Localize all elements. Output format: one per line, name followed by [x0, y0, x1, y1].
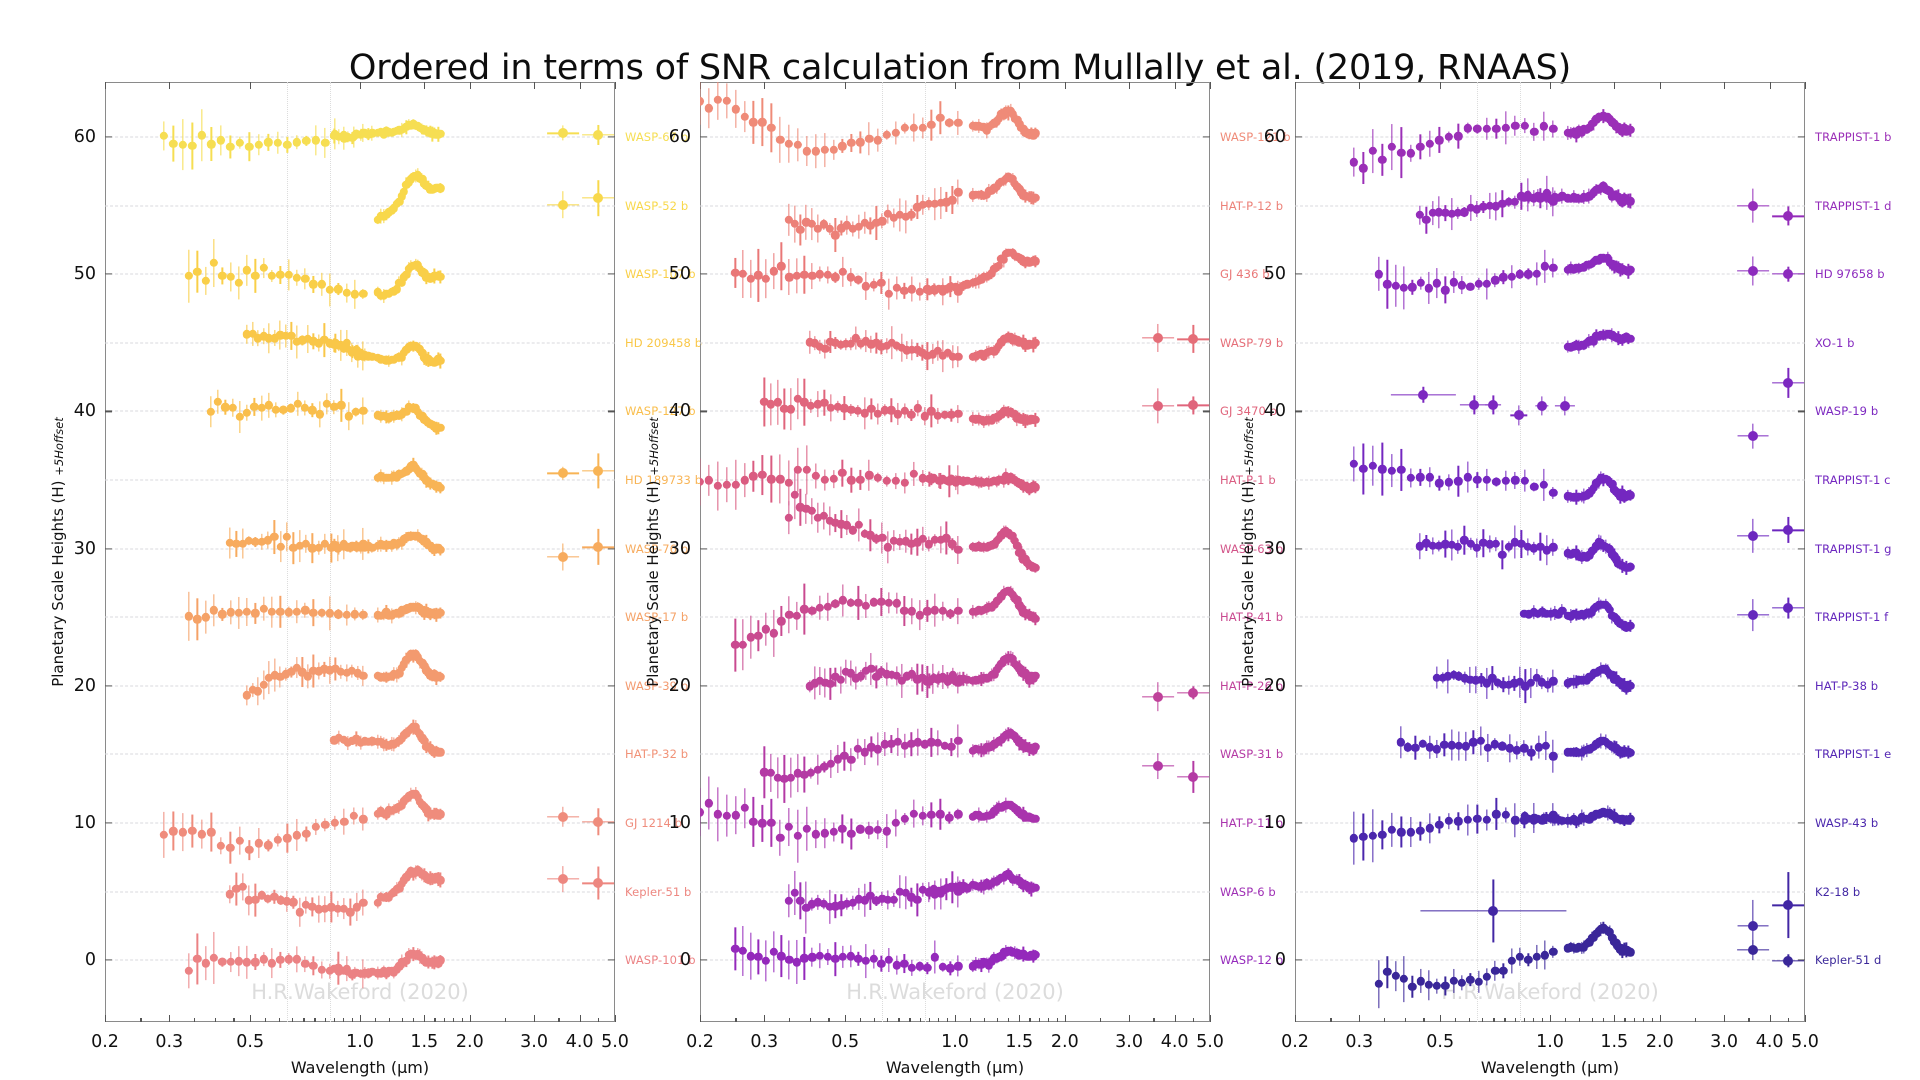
x-tick-label-0.5: 0.5	[236, 1022, 264, 1052]
x-tick-label-1.5: 1.5	[410, 1022, 438, 1052]
x-tick-label-4.0: 4.0	[566, 1022, 594, 1052]
y-tick-label-40: 40	[1264, 401, 1295, 421]
x-tick-label-0.3: 0.3	[1345, 1022, 1373, 1052]
y-axis-label-offset-note: +5Hoffset	[52, 417, 66, 476]
x-tick-mark-top	[1805, 82, 1806, 89]
data-point	[235, 957, 243, 965]
data-point	[251, 958, 259, 966]
y-axis-label: Planetary Scale Heights (H) +5Hoffset	[49, 417, 67, 687]
x-tick-label-2.0: 2.0	[456, 1022, 484, 1052]
data-point	[436, 956, 444, 964]
data-point	[193, 955, 201, 963]
y-tick-label-0: 0	[1275, 950, 1295, 970]
x-tick-label-0.2: 0.2	[686, 1022, 714, 1052]
y-tick-label-0: 0	[680, 950, 700, 970]
y-tick-label-20: 20	[669, 676, 700, 696]
y-tick-label-30: 30	[1264, 539, 1295, 559]
y-axis-label-wrap: Planetary Scale Heights (H) +5Hoffset	[638, 82, 668, 1022]
data-point	[923, 964, 931, 972]
x-axis-label: Wavelength (µm)	[105, 1058, 615, 1077]
data-point	[218, 958, 226, 966]
x-axis-label: Wavelength (µm)	[700, 1058, 1210, 1077]
x-tick-label-0.5: 0.5	[1426, 1022, 1454, 1052]
data-layer	[700, 82, 1210, 1022]
y-tick-label-50: 50	[669, 264, 700, 284]
y-tick-label-10: 10	[1264, 813, 1295, 833]
x-tick-label-0.2: 0.2	[91, 1022, 119, 1052]
data-point	[226, 958, 234, 966]
x-tick-mark	[1210, 1015, 1211, 1022]
data-point	[259, 955, 267, 963]
x-tick-label-1.0: 1.0	[1536, 1022, 1564, 1052]
y-axis-label-wrap: Planetary Scale Heights (H) +5Hoffset	[43, 82, 73, 1022]
x-tick-label-2.0: 2.0	[1646, 1022, 1674, 1052]
y-axis-label-offset-note: +5Hoffset	[647, 417, 661, 476]
x-tick-label-1.5: 1.5	[1600, 1022, 1628, 1052]
y-axis-label-offset-note: +5Hoffset	[1242, 417, 1256, 476]
data-point	[1031, 950, 1039, 958]
y-tick-label-0: 0	[85, 950, 105, 970]
y-tick-label-50: 50	[1264, 264, 1295, 284]
x-tick-label-5.0: 5.0	[1791, 1022, 1819, 1052]
series-wasp-12-b	[700, 82, 1210, 1022]
series-wasp-101-b	[105, 82, 615, 1022]
data-point	[931, 953, 939, 961]
x-tick-label-1.0: 1.0	[346, 1022, 374, 1052]
y-tick-label-60: 60	[1264, 127, 1295, 147]
panel-middle: 01020304050600.20.30.51.01.52.03.04.05.0…	[700, 82, 1210, 1022]
y-axis-label-wrap: Planetary Scale Heights (H) +5Hoffset	[1233, 82, 1263, 1022]
x-tick-label-0.3: 0.3	[155, 1022, 183, 1052]
x-axis-label: Wavelength (µm)	[1295, 1058, 1805, 1077]
y-tick-label-10: 10	[669, 813, 700, 833]
data-layer	[105, 82, 615, 1022]
x-tick-label-2.0: 2.0	[1051, 1022, 1079, 1052]
data-point	[210, 954, 218, 962]
data-point	[284, 955, 292, 963]
y-tick-label-30: 30	[74, 539, 105, 559]
x-tick-mark-top	[1210, 82, 1211, 89]
y-tick-label-40: 40	[74, 401, 105, 421]
x-tick-label-0.3: 0.3	[750, 1022, 778, 1052]
y-tick-label-50: 50	[74, 264, 105, 284]
y-tick-label-60: 60	[669, 127, 700, 147]
data-point	[309, 961, 317, 969]
y-tick-label-20: 20	[1264, 676, 1295, 696]
y-axis-label: Planetary Scale Heights (H) +5Hoffset	[1239, 417, 1257, 687]
x-tick-label-1.0: 1.0	[941, 1022, 969, 1052]
data-point	[317, 966, 325, 974]
y-tick-label-10: 10	[74, 813, 105, 833]
y-tick-label-60: 60	[74, 127, 105, 147]
y-tick-label-40: 40	[669, 401, 700, 421]
data-point	[301, 960, 309, 968]
x-tick-label-5.0: 5.0	[601, 1022, 629, 1052]
data-point	[268, 959, 276, 967]
data-point	[201, 959, 209, 967]
x-tick-label-1.5: 1.5	[1005, 1022, 1033, 1052]
data-point	[185, 967, 193, 975]
x-tick-mark-top	[615, 82, 616, 89]
x-tick-label-4.0: 4.0	[1756, 1022, 1784, 1052]
data-point	[293, 955, 301, 963]
x-tick-label-3.0: 3.0	[1115, 1022, 1143, 1052]
x-tick-mark	[1805, 1015, 1806, 1022]
panel-right: 01020304050600.20.30.51.01.52.03.04.05.0…	[1295, 82, 1805, 1022]
x-tick-label-3.0: 3.0	[1710, 1022, 1738, 1052]
panel-left: 01020304050600.20.30.51.01.52.03.04.05.0…	[105, 82, 615, 1022]
y-tick-label-30: 30	[669, 539, 700, 559]
x-tick-mark	[615, 1015, 616, 1022]
data-point	[276, 956, 284, 964]
transmission-spectra-figure: Ordered in terms of SNR calculation from…	[0, 0, 1920, 1080]
x-tick-label-4.0: 4.0	[1161, 1022, 1189, 1052]
data-point	[243, 958, 251, 966]
x-tick-label-3.0: 3.0	[520, 1022, 548, 1052]
x-tick-label-0.2: 0.2	[1281, 1022, 1309, 1052]
y-axis-label: Planetary Scale Heights (H) +5Hoffset	[644, 417, 662, 687]
x-tick-label-0.5: 0.5	[831, 1022, 859, 1052]
x-tick-label-5.0: 5.0	[1196, 1022, 1224, 1052]
y-tick-label-20: 20	[74, 676, 105, 696]
data-point	[954, 962, 962, 970]
data-layer	[1295, 82, 1805, 1022]
data-point	[762, 957, 770, 965]
